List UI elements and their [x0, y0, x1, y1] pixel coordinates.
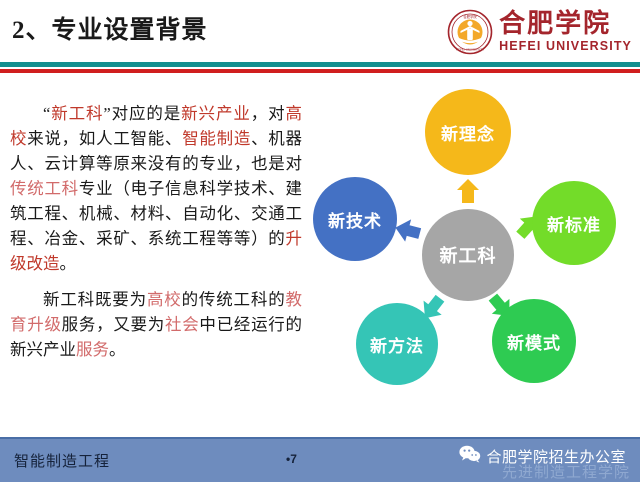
node-label: 新工科	[440, 242, 497, 268]
page-number: •7	[286, 452, 297, 466]
wechat-account-block: 合肥学院招生办公室	[459, 445, 626, 468]
node-label: 新方法	[370, 332, 424, 357]
logo-text-block: 合肥学院 HEFEI UNIVERSITY	[499, 11, 632, 53]
node-new-technology[interactable]: 新技术	[313, 177, 397, 261]
slide-footer: 智能制造工程 •7 先进制造工程学院 合肥学院招生办公室	[0, 437, 640, 482]
node-label: 新技术	[328, 207, 382, 232]
arrow-up	[457, 179, 479, 203]
node-label: 新模式	[507, 329, 561, 354]
paragraph-1: “新工科”对应的是新兴产业，对高校来说，如人工智能、智能制造、机器人、云计算等原…	[10, 101, 302, 277]
text-segment: ”对应的是	[103, 104, 181, 123]
page-title: 2、专业设置背景	[12, 10, 208, 46]
wechat-icon	[459, 445, 481, 468]
logo-english-name: HEFEI UNIVERSITY	[499, 40, 632, 53]
footer-program-label: 智能制造工程	[14, 450, 110, 471]
node-new-engineering-center[interactable]: 新工科	[422, 209, 514, 301]
new-engineering-diagram: 新理念 新标准 新模式 新方法 新技术 新工科	[300, 81, 636, 429]
hefei-university-seal-icon: 合肥学院 HEFEI UNIVERSITY	[447, 9, 493, 55]
node-new-model[interactable]: 新模式	[492, 299, 576, 383]
slide-header: 2、专业设置背景 合肥学院 HEFEI UNIVERSITY 合肥学院 HEFE…	[0, 0, 640, 62]
text-segment: 社会	[165, 315, 199, 334]
wechat-account-name: 合肥学院招生办公室	[486, 446, 626, 467]
node-label: 新理念	[441, 120, 495, 145]
text-segment: 智能制造	[182, 129, 251, 148]
text-segment: 服务，又要为	[62, 315, 165, 334]
text-segment: 高校	[147, 290, 182, 309]
university-logo: 合肥学院 HEFEI UNIVERSITY 合肥学院 HEFEI UNIVERS…	[447, 4, 632, 60]
logo-chinese-name: 合肥学院	[499, 11, 632, 37]
text-segment: 传统工科	[10, 179, 79, 198]
svg-text:HEFEI UNIVERSITY: HEFEI UNIVERSITY	[456, 48, 485, 52]
paragraph-2: 新工科既要为高校的传统工科的教育升级服务，又要为社会中已经运行的新兴产业服务。	[10, 287, 302, 362]
node-new-standard[interactable]: 新标准	[532, 181, 616, 265]
text-segment: 新兴产业	[181, 104, 251, 123]
svg-text:合肥学院: 合肥学院	[463, 14, 477, 19]
slide-body: “新工科”对应的是新兴产业，对高校来说，如人工智能、智能制造、机器人、云计算等原…	[0, 73, 640, 437]
node-new-concept[interactable]: 新理念	[425, 89, 511, 175]
text-segment: 来说，如人工智能、	[27, 129, 182, 148]
text-segment: 新工科既要为	[43, 290, 147, 309]
node-new-method[interactable]: 新方法	[356, 303, 438, 385]
text-segment: ，对	[251, 104, 286, 123]
text-segment: 。	[109, 340, 126, 359]
arrow-left	[393, 216, 423, 245]
text-segment: 。	[60, 254, 77, 273]
slide: 2、专业设置背景 合肥学院 HEFEI UNIVERSITY 合肥学院 HEFE…	[0, 0, 640, 480]
text-segment: 的传统工科的	[182, 290, 286, 309]
text-segment: 服务	[76, 340, 109, 359]
body-text-column: “新工科”对应的是新兴产业，对高校来说，如人工智能、智能制造、机器人、云计算等原…	[10, 101, 302, 362]
node-label: 新标准	[547, 211, 601, 236]
text-segment: 新工科	[50, 104, 103, 123]
